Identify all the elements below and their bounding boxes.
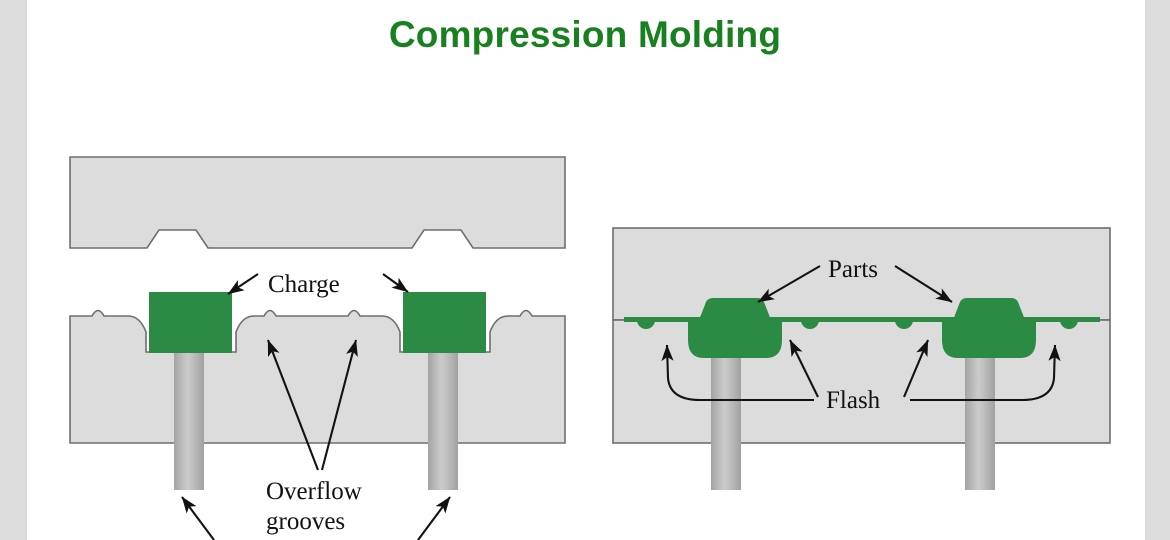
left-ejector-pin-1 xyxy=(174,352,204,490)
ejector-pin-arrow-1 xyxy=(182,497,214,540)
right-ejector-pin-1 xyxy=(711,352,741,490)
charge-arrow-right xyxy=(383,274,408,292)
overflow-grooves-label-line2: grooves xyxy=(266,508,345,535)
flash-label: Flash xyxy=(826,387,881,414)
compression-molding-diagram: Charge Overflow grooves xyxy=(0,0,1170,540)
overflow-grooves-label-line1: Overflow xyxy=(266,478,362,505)
ejector-pin-arrow-2 xyxy=(418,497,450,540)
left-ejector-pin-2 xyxy=(428,352,458,490)
charge-arrow-left xyxy=(228,274,258,294)
left-lower-mold-half xyxy=(70,311,565,444)
left-diagram-group: Charge Overflow grooves xyxy=(70,157,565,540)
left-upper-mold-half xyxy=(70,157,565,248)
parts-label: Parts xyxy=(828,256,878,283)
charge-label: Charge xyxy=(268,271,340,298)
charge-block-2 xyxy=(403,292,486,353)
right-ejector-pin-2 xyxy=(965,352,995,490)
charge-block-1 xyxy=(149,292,232,353)
right-diagram-group: Parts Flash xyxy=(613,228,1110,490)
slide-canvas: Compression Molding xyxy=(0,0,1170,540)
